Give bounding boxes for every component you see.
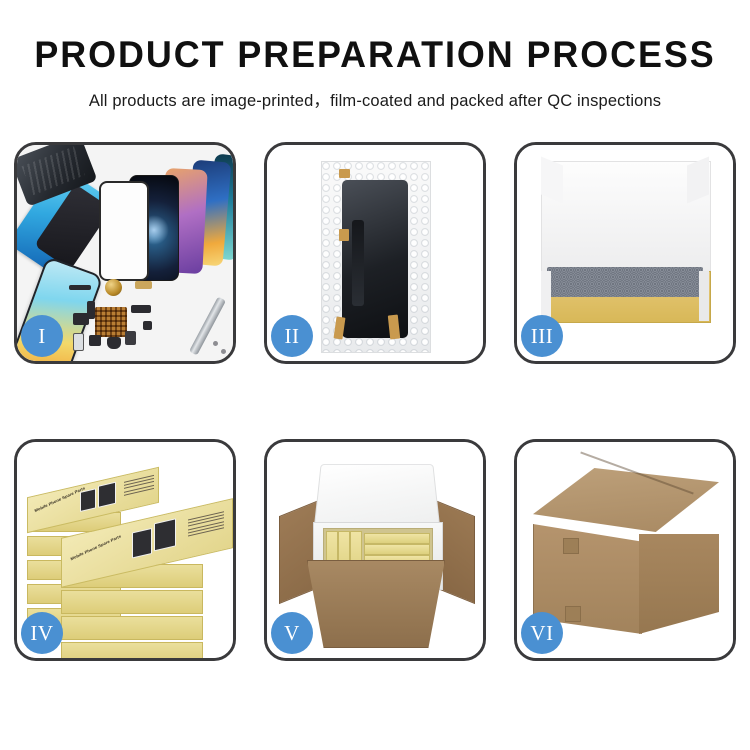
- box-edge: [61, 642, 203, 658]
- component-icon: [125, 331, 136, 345]
- process-step-panel-3[interactable]: III: [514, 142, 736, 364]
- carton-tape-icon: [565, 606, 581, 622]
- page-header: PRODUCT PREPARATION PROCESS All products…: [0, 0, 750, 111]
- tape-icon: [339, 229, 349, 241]
- carton-tape-icon: [563, 538, 579, 554]
- box-photo-swatch: [80, 488, 96, 512]
- screw-grid-icon: [95, 307, 127, 337]
- box-edge: [61, 616, 203, 640]
- process-step-panel-1[interactable]: I: [14, 142, 236, 364]
- process-step-panel-6[interactable]: VI: [514, 439, 736, 661]
- page-subtitle: All products are image-printed，film-coat…: [0, 87, 750, 111]
- step-badge-6: VI: [521, 612, 563, 654]
- front-glass-icon: [99, 181, 149, 281]
- box-lip-right-icon: [699, 271, 709, 321]
- component-icon: [89, 335, 101, 346]
- component-icon: [131, 305, 151, 313]
- box-lip-left-icon: [541, 271, 551, 321]
- carton-top-face: [533, 468, 719, 532]
- bubble-wrap-contents-icon: [547, 267, 703, 297]
- carton-side-face: [639, 534, 719, 634]
- step-badge-3: III: [521, 315, 563, 357]
- packed-box-icon: [364, 533, 430, 544]
- box-photo-swatch: [98, 482, 116, 508]
- screen-assembly-icon: [342, 180, 408, 338]
- box-lid-icon: [541, 161, 711, 273]
- screwdriver-icon: [189, 297, 226, 356]
- page-title: PRODUCT PREPARATION PROCESS: [11, 36, 739, 73]
- box-photo-swatch: [154, 518, 176, 551]
- component-icon: [87, 301, 95, 319]
- speaker-coil-icon: [105, 279, 122, 296]
- screw-icon: [221, 349, 226, 354]
- process-step-panel-4[interactable]: Mobile Phone Spare Parts Mobile Phone Sp…: [14, 439, 236, 661]
- step-badge-4: IV: [21, 612, 63, 654]
- step-badge-2: II: [271, 315, 313, 357]
- process-step-panel-5[interactable]: V: [264, 439, 486, 661]
- process-step-grid: I II III: [14, 142, 737, 661]
- process-step-panel-2[interactable]: II: [264, 142, 486, 364]
- box-spec-lines: [188, 511, 224, 538]
- tape-icon: [339, 169, 350, 178]
- box-edge: [61, 590, 203, 614]
- carton-body-icon: [307, 560, 445, 648]
- screw-icon: [213, 341, 218, 346]
- box-label-text: Mobile Phone Spare Parts: [34, 485, 85, 513]
- component-icon: [69, 285, 91, 290]
- component-icon: [143, 321, 152, 330]
- box-spec-lines: [124, 475, 154, 498]
- step-badge-5: V: [271, 612, 313, 654]
- component-icon: [107, 337, 121, 349]
- step-badge-1: I: [21, 315, 63, 357]
- box-label-text: Mobile Phone Spare Parts: [70, 534, 121, 562]
- component-icon: [73, 333, 84, 351]
- component-icon: [135, 281, 152, 289]
- packed-box-icon: [364, 544, 430, 555]
- box-photo-swatch: [132, 528, 152, 559]
